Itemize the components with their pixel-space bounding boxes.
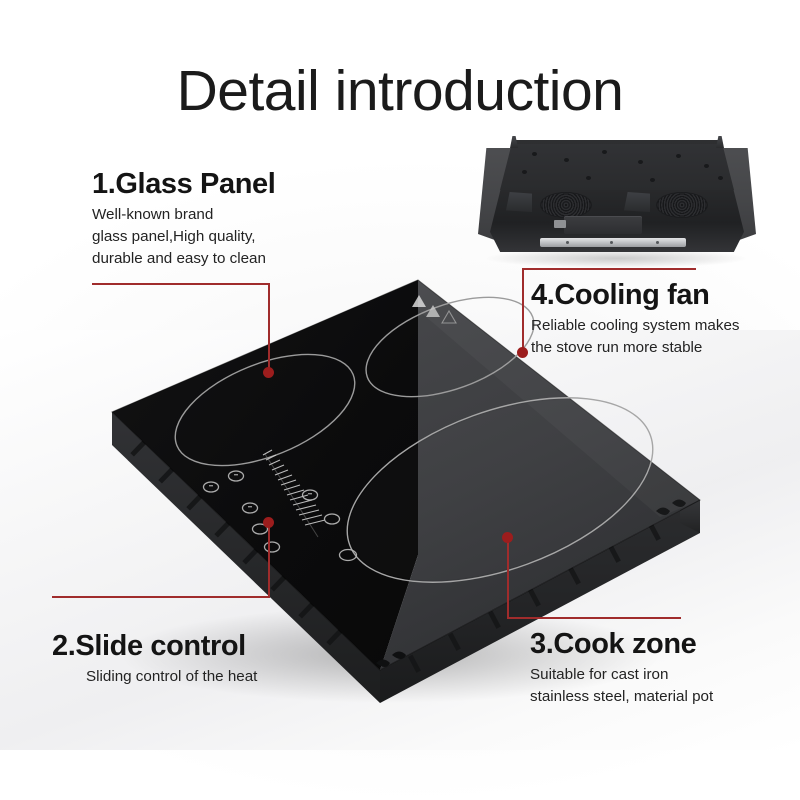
cooling-fan-icon [656,192,708,218]
power-icon-glyph [209,485,213,486]
callout-glass-panel-line-1: Well-known brand [92,204,275,226]
inset-mounting-clip [510,136,518,148]
callout-slide-control-heading: 2.Slide control [52,630,257,662]
inset-screw-hole [532,152,537,156]
inset-screw-hole [586,176,591,180]
callout-glass-panel: 1.Glass Panel Well-known brand glass pan… [92,168,275,269]
leader-dot-glass-panel [263,367,274,378]
cooling-fan-inset-image [478,136,756,264]
inset-screw-hole [676,154,681,158]
leader-line-cooling-fan-horizontal [522,268,696,270]
leader-dot-cook-zone [502,532,513,543]
callout-cooling-fan-heading: 4.Cooling fan [531,279,740,311]
timer-icon-glyph [234,474,238,475]
callout-cooling-fan: 4.Cooling fan Reliable cooling system ma… [531,279,740,359]
inset-bar-screw [656,241,659,244]
leader-dot-slide-control [263,517,274,528]
inset-mounting-clip [716,136,724,148]
inset-power-connector [554,220,566,228]
inset-bar-screw [566,241,569,244]
leader-line-glass-panel-horizontal [92,283,270,285]
page-title: Detail introduction [0,58,800,124]
leader-line-slide-control-horizontal [52,596,270,598]
inset-screw-hole [704,164,709,168]
cooling-fan-icon [540,192,592,218]
leader-line-cook-zone-horizontal [507,617,681,619]
minus-icon-glyph [248,506,252,507]
callout-glass-panel-line-2: glass panel,High quality, [92,226,275,248]
infographic-page: Detail introduction [0,0,800,800]
inset-screw-hole [718,176,723,180]
callout-cooling-fan-line-1: Reliable cooling system makes [531,315,740,337]
inset-screw-hole [564,158,569,162]
boost-icon-glyph [308,493,312,494]
callout-cook-zone-line-1: Suitable for cast iron [530,664,713,686]
callout-glass-panel-heading: 1.Glass Panel [92,168,275,200]
inset-top-deck [500,144,734,190]
callout-slide-control: 2.Slide control Sliding control of the h… [52,630,257,688]
inset-screw-hole [602,150,607,154]
callout-cooling-fan-line-2: the stove run more stable [531,337,740,359]
callout-glass-panel-line-3: durable and easy to clean [92,248,275,270]
leader-line-glass-panel-vertical [268,283,270,372]
callout-cook-zone-heading: 3.Cook zone [530,628,713,660]
leader-dot-cooling-fan [517,347,528,358]
inset-mounting-bar [540,238,686,247]
inset-screw-hole [638,160,643,164]
inset-control-module [564,216,642,234]
inset-screw-hole [650,178,655,182]
leader-line-slide-control-vertical [268,522,270,598]
leader-line-cook-zone-vertical [507,537,509,619]
inset-air-vent [624,192,650,212]
leader-line-cooling-fan-vertical [522,268,524,353]
callout-cook-zone: 3.Cook zone Suitable for cast iron stain… [530,628,713,708]
inset-screw-hole [522,170,527,174]
callout-cook-zone-line-2: stainless steel, material pot [530,686,713,708]
callout-slide-control-line-1: Sliding control of the heat [52,666,257,688]
inset-bar-screw [610,241,613,244]
inset-air-vent [506,192,532,212]
